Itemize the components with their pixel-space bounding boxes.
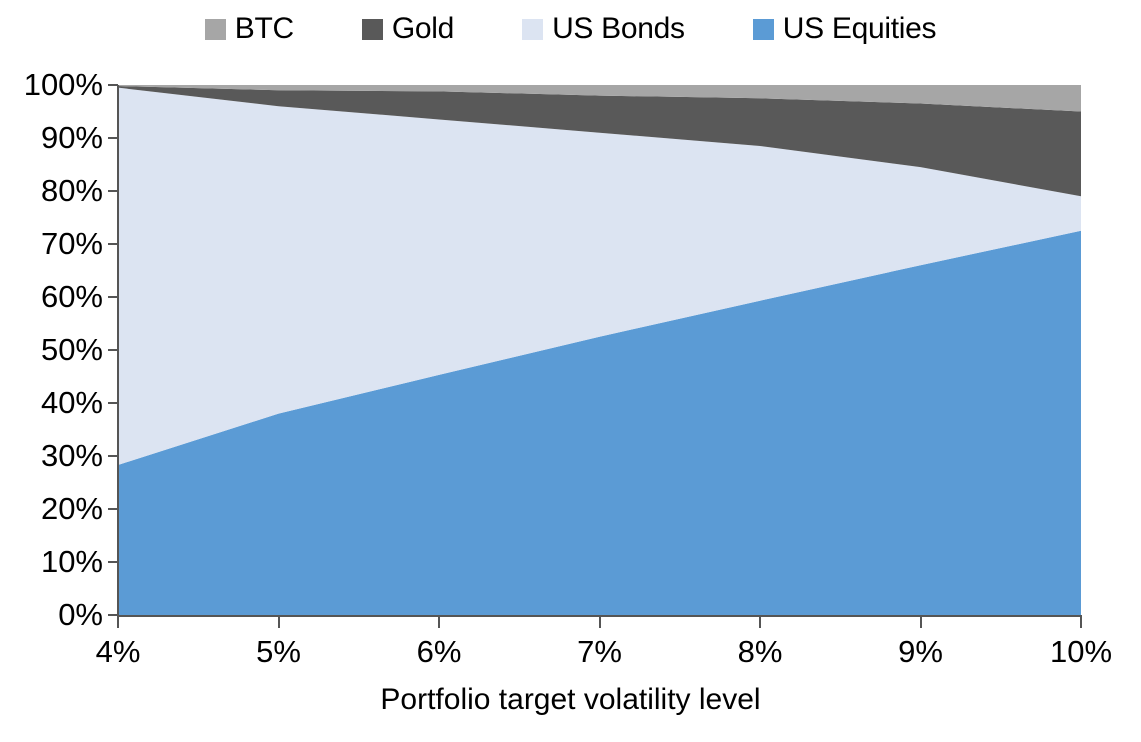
y-tick-mark: [108, 349, 118, 351]
y-tick-mark: [108, 137, 118, 139]
y-tick-text: 20%: [41, 493, 117, 524]
y-tick-text: 70%: [41, 228, 117, 259]
x-tick-label: 7%: [577, 635, 622, 669]
x-tick-label: 4%: [96, 635, 141, 669]
y-tick-text: 90%: [41, 122, 117, 153]
y-tick-mark: [108, 243, 118, 245]
legend-item-btc: BTC: [205, 14, 294, 44]
stacked-area-chart: 0%10%20%30%40%50%60%70%80%90%100% 4%5%6%…: [0, 50, 1141, 742]
x-tick-label: 6%: [417, 635, 462, 669]
legend-item-us-equities: US Equities: [753, 14, 936, 44]
y-tick-text: 60%: [41, 281, 117, 312]
y-tick-text: 50%: [41, 334, 117, 365]
y-tick-mark: [108, 402, 118, 404]
area-series-canvas: [118, 85, 1081, 615]
x-tick-mark: [1080, 617, 1082, 628]
y-axis-line: [117, 85, 119, 617]
y-tick-mark: [108, 190, 118, 192]
chart-legend: BTC Gold US Bonds US Equities: [0, 8, 1141, 50]
x-tick-mark: [920, 617, 922, 628]
legend-label-us-bonds: US Bonds: [552, 14, 685, 44]
square-swatch-icon: [753, 19, 774, 40]
legend-label-us-equities: US Equities: [783, 14, 936, 44]
square-swatch-icon: [362, 19, 383, 40]
x-tick-label: 5%: [256, 635, 301, 669]
x-tick-mark: [759, 617, 761, 628]
x-tick-label: 9%: [898, 635, 943, 669]
y-tick-mark: [108, 296, 118, 298]
plot-area: [118, 85, 1081, 615]
y-tick-mark: [108, 455, 118, 457]
x-tick-mark: [438, 617, 440, 628]
x-tick-mark: [278, 617, 280, 628]
legend-label-gold: Gold: [392, 14, 454, 44]
y-tick-text: 10%: [41, 546, 117, 577]
legend-item-gold: Gold: [362, 14, 454, 44]
x-tick-label: 10%: [1050, 635, 1112, 669]
y-tick-mark: [108, 561, 118, 563]
legend-label-btc: BTC: [235, 14, 294, 44]
x-tick-mark: [117, 617, 119, 628]
y-tick-text: 40%: [41, 387, 117, 418]
y-tick-text: 30%: [41, 440, 117, 471]
square-swatch-icon: [205, 19, 226, 40]
y-tick-mark: [108, 84, 118, 86]
y-tick-mark: [108, 614, 118, 616]
x-axis-title: Portfolio target volatility level: [0, 683, 1141, 717]
x-tick-label: 8%: [738, 635, 783, 669]
square-swatch-icon: [522, 19, 543, 40]
legend-item-us-bonds: US Bonds: [522, 14, 685, 44]
y-tick-text: 100%: [24, 69, 117, 100]
y-tick-mark: [108, 508, 118, 510]
x-tick-mark: [599, 617, 601, 628]
y-tick-text: 80%: [41, 175, 117, 206]
